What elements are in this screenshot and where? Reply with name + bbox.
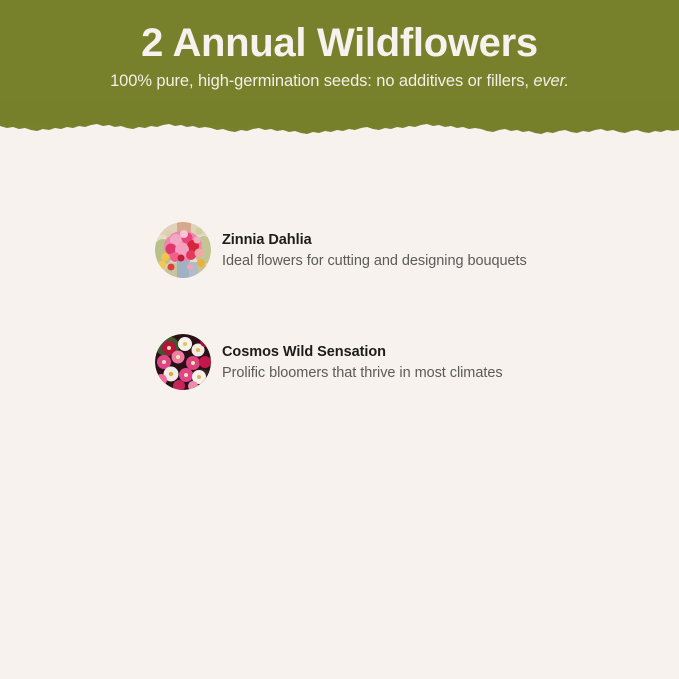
- banner-content: 2 Annual Wildflowers 100% pure, high-ger…: [0, 0, 679, 91]
- zinnia-dahlia-thumbnail[interactable]: [155, 222, 211, 278]
- item-title: Zinnia Dahlia: [222, 231, 527, 249]
- zinnia-dahlia-photo: [155, 222, 211, 278]
- list-item[interactable]: Cosmos Wild Sensation Prolific bloomers …: [0, 334, 679, 390]
- subtitle-emphasis-text: ever.: [533, 72, 569, 90]
- cosmos-wild-sensation-photo: [155, 334, 211, 390]
- item-description: Ideal flowers for cutting and designing …: [222, 252, 527, 270]
- page-subtitle: 100% pure, high-germination seeds: no ad…: [0, 72, 679, 91]
- item-title: Cosmos Wild Sensation: [222, 343, 503, 361]
- cosmos-wild-sensation-thumbnail[interactable]: [155, 334, 211, 390]
- page-title: 2 Annual Wildflowers: [0, 23, 679, 63]
- item-description: Prolific bloomers that thrive in most cl…: [222, 364, 503, 382]
- subtitle-lead-text: 100% pure, high-germination seeds: no ad…: [110, 72, 529, 90]
- list-item[interactable]: Zinnia Dahlia Ideal flowers for cutting …: [0, 222, 679, 278]
- item-text-block: Cosmos Wild Sensation Prolific bloomers …: [211, 334, 503, 382]
- wildflower-list: Zinnia Dahlia Ideal flowers for cutting …: [0, 222, 679, 446]
- header-banner: 2 Annual Wildflowers 100% pure, high-ger…: [0, 0, 679, 143]
- item-text-block: Zinnia Dahlia Ideal flowers for cutting …: [211, 222, 527, 270]
